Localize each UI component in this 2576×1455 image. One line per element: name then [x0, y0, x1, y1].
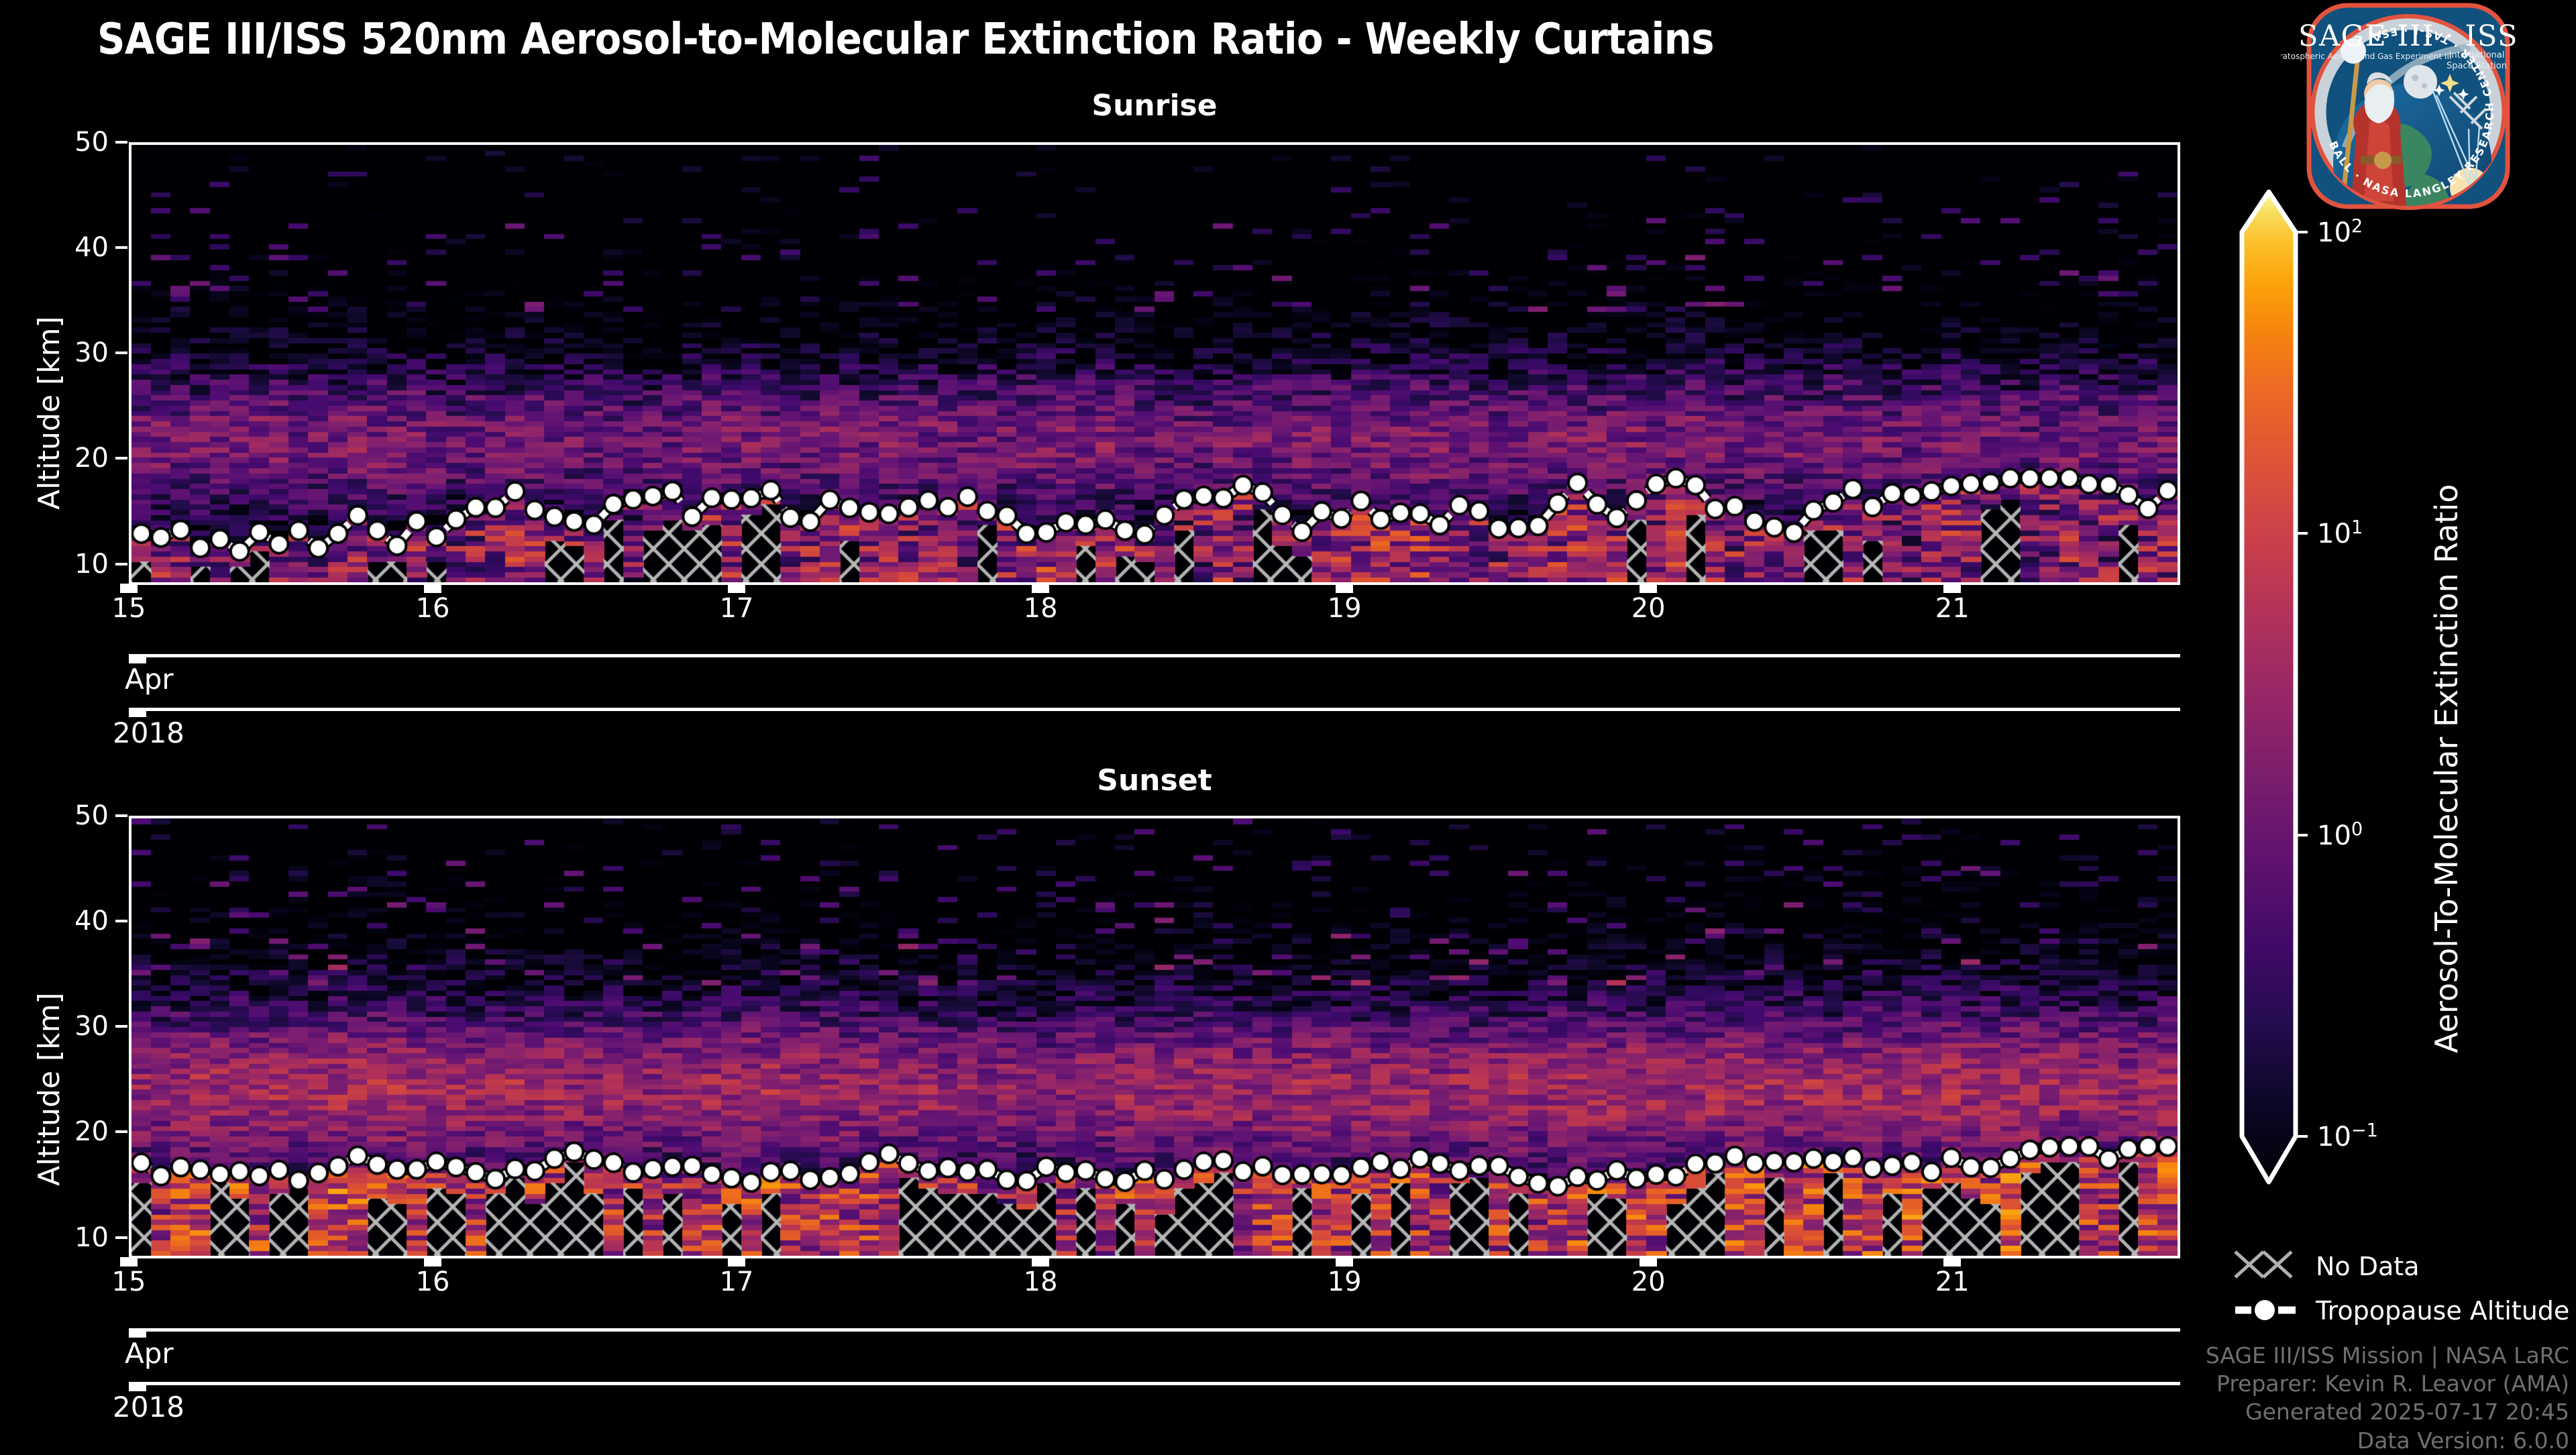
y-tick-label-sunrise-40: 40: [28, 232, 109, 263]
y-tick-mark-sunset-10: [115, 1236, 127, 1239]
colorbar-tick-label-0.1: 10−1: [2317, 1120, 2378, 1152]
logo-subtitle-right-1: International: [2449, 50, 2505, 60]
heatmap-canvas-sunrise: [131, 145, 2178, 582]
x-tick-mark-sunset-16: [424, 1257, 441, 1267]
panel-sunset: Sunset Altitude [km] 1020304050 15161718…: [0, 751, 2214, 1449]
colorbar-label: Aerosol-To-Molecular Extinction Ratio: [2428, 484, 2465, 1053]
x-tick-label-sunset-16: 16: [416, 1267, 450, 1297]
x-tick-label-sunrise-21: 21: [1935, 593, 1970, 624]
logo-subtitle-right-2: Space Station: [2447, 61, 2507, 71]
footer-line-mission: SAGE III/ISS Mission | NASA LaRC: [1905, 1342, 2569, 1370]
x-tick-mark-sunset-21: [1943, 1257, 1961, 1267]
year-tick-sunrise: [129, 708, 146, 717]
legend-label-tropopause: Tropopause Altitude: [2316, 1296, 2569, 1326]
panel-sunrise: Sunrise Altitude [km] 1020304050 1516171…: [0, 0, 2214, 724]
x-tick-mark-sunset-20: [1640, 1257, 1657, 1267]
x-tick-label-sunrise-16: 16: [416, 593, 450, 624]
month-label-sunset: Apr: [125, 1337, 174, 1370]
colorbar-tick-mark-1: [2297, 834, 2308, 837]
panel-title-sunrise: Sunrise: [129, 89, 2180, 123]
no-data-hatch-icon: [2234, 1248, 2298, 1284]
y-tick-mark-sunrise-50: [115, 141, 127, 144]
year-tick-sunset: [129, 1382, 146, 1391]
y-tick-mark-sunset-30: [115, 1025, 127, 1028]
x-tick-mark-sunrise-15: [120, 584, 138, 593]
colorbar-tick-mark-10: [2297, 532, 2308, 535]
year-rule-sunset: [129, 1382, 2180, 1385]
x-tick-label-sunrise-19: 19: [1328, 593, 1362, 624]
footer-line-generated: Generated 2025-07-17 20:45: [1905, 1398, 2569, 1426]
x-tick-label-sunset-21: 21: [1935, 1267, 1970, 1297]
colorbar-gradient: [2227, 188, 2334, 1194]
month-label-sunrise: Apr: [125, 663, 174, 696]
heatmap-sunrise[interactable]: [129, 142, 2180, 585]
colorbar-tick-mark-100: [2297, 231, 2308, 233]
y-tick-label-sunrise-20: 20: [28, 443, 109, 474]
y-tick-mark-sunrise-40: [115, 246, 127, 249]
x-tick-label-sunrise-18: 18: [1024, 593, 1058, 624]
heatmap-sunset[interactable]: [129, 816, 2180, 1258]
month-rule-sunset: [129, 1328, 2180, 1332]
month-rule-sunrise: [129, 654, 2180, 657]
footer-credits: SAGE III/ISS Mission | NASA LaRC Prepare…: [1905, 1342, 2569, 1455]
month-tick-sunrise: [129, 654, 146, 663]
x-tick-mark-sunset-15: [120, 1257, 138, 1267]
colorbar-tick-label-100: 102: [2317, 216, 2363, 248]
year-label-sunset: 2018: [113, 1391, 184, 1423]
y-tick-label-sunset-30: 30: [28, 1011, 109, 1042]
footer-line-preparer: Preparer: Kevin R. Leavor (AMA): [1905, 1370, 2569, 1398]
x-tick-mark-sunrise-21: [1943, 584, 1961, 593]
x-tick-label-sunrise-17: 17: [720, 593, 754, 624]
y-tick-mark-sunrise-10: [115, 563, 127, 565]
x-tick-mark-sunset-19: [1336, 1257, 1353, 1267]
colorbar-tick-label-10: 101: [2317, 517, 2363, 549]
logo-title-text: SAGE III · ISS: [2298, 19, 2518, 53]
y-tick-mark-sunset-40: [115, 920, 127, 922]
x-tick-mark-sunrise-19: [1336, 584, 1353, 593]
x-tick-mark-sunrise-20: [1640, 584, 1657, 593]
year-label-sunrise: 2018: [113, 716, 184, 749]
x-tick-label-sunset-18: 18: [1024, 1267, 1058, 1297]
x-tick-label-sunset-19: 19: [1328, 1267, 1362, 1297]
y-tick-mark-sunset-50: [115, 814, 127, 817]
x-tick-mark-sunrise-18: [1032, 584, 1049, 593]
footer-line-version: Data Version: 6.0.0: [1905, 1427, 2569, 1455]
logo-subtitle-left: Stratospheric Aerosol and Gas Experiment…: [2281, 52, 2452, 61]
colorbar-tick-mark-0.1: [2297, 1135, 2308, 1138]
y-tick-mark-sunrise-20: [115, 457, 127, 460]
legend: No Data Tropopause Altitude: [2227, 1248, 2576, 1335]
panel-title-sunset: Sunset: [129, 763, 2180, 798]
colorbar[interactable]: 10210110010−1 Aerosol-To-Molecular Extin…: [2227, 188, 2509, 1194]
x-tick-mark-sunset-17: [728, 1257, 745, 1267]
y-tick-label-sunset-20: 20: [28, 1116, 109, 1147]
y-tick-label-sunset-10: 10: [28, 1222, 109, 1253]
x-tick-mark-sunrise-17: [728, 584, 745, 593]
x-tick-label-sunrise-15: 15: [112, 593, 146, 624]
x-tick-label-sunset-17: 17: [720, 1267, 754, 1297]
y-tick-label-sunrise-10: 10: [28, 549, 109, 580]
y-tick-label-sunset-50: 50: [28, 800, 109, 831]
x-tick-label-sunset-15: 15: [112, 1267, 146, 1297]
y-tick-label-sunrise-50: 50: [28, 127, 109, 158]
year-rule-sunrise: [129, 708, 2180, 711]
y-tick-mark-sunrise-30: [115, 352, 127, 354]
month-tick-sunset: [129, 1328, 146, 1338]
x-tick-label-sunrise-20: 20: [1631, 593, 1666, 624]
legend-label-no-data: No Data: [2316, 1252, 2420, 1281]
heatmap-canvas-sunset: [131, 818, 2178, 1256]
y-tick-label-sunset-40: 40: [28, 906, 109, 936]
tropopause-line-icon: [2234, 1292, 2298, 1328]
x-tick-mark-sunset-18: [1032, 1257, 1049, 1267]
colorbar-tick-label-1: 100: [2317, 818, 2363, 851]
x-tick-label-sunset-20: 20: [1631, 1267, 1666, 1297]
x-tick-mark-sunrise-16: [424, 584, 441, 593]
y-tick-mark-sunset-20: [115, 1130, 127, 1133]
y-tick-label-sunrise-30: 30: [28, 337, 109, 368]
